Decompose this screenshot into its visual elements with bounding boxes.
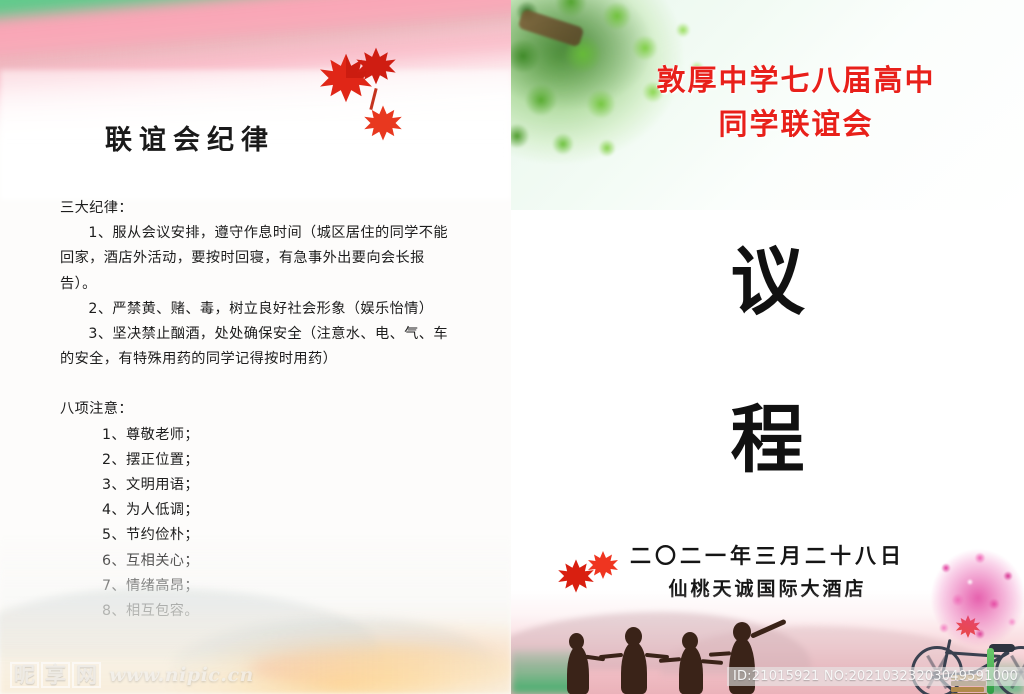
section-spacer (60, 372, 460, 397)
notes-item-3: 3、文明用语； (60, 473, 460, 498)
asset-id-strip: ID:21015921 NO:20210323203049591000 (727, 667, 1024, 686)
watermark-brand: 昵 享 网 (10, 662, 101, 688)
notes-item-1: 1、尊敬老师； (60, 423, 460, 448)
person-silhouette (621, 642, 647, 694)
discipline-heading: 三大纪律： (60, 196, 460, 221)
sunset-cloud-decoration (250, 647, 511, 689)
discipline-item-3: 3、坚决禁止酗酒，处处确保安全（注意水、电、气、车的安全，有特殊用药的同学记得按… (60, 322, 460, 372)
watermark-char-1: 昵 (10, 662, 39, 688)
right-panel: 敦厚中学七八届高中 同学联谊会 议 程 二〇二一年三月二十八日 仙桃天诚国际大酒… (511, 0, 1024, 694)
discipline-item-1: 1、服从会议安排，遵守作息时间（城区居住的同学不能回家，酒店外活动，要按时回寝，… (60, 221, 460, 297)
notes-heading: 八项注意： (60, 397, 460, 422)
notes-item-2: 2、摆正位置； (60, 448, 460, 473)
person-silhouette (567, 646, 589, 694)
watermark-url: www.nipic.cn (109, 664, 254, 686)
agenda-char-cheng: 程 (511, 380, 1024, 487)
watermark-char-2: 享 (41, 662, 70, 688)
left-panel-title: 联谊会纪律 (0, 118, 380, 157)
brochure-canvas: 联谊会纪律 三大纪律： 1、服从会议安排，遵守作息时间（城区居住的同学不能回家，… (0, 0, 1024, 694)
notes-item-4: 4、为人低调； (60, 498, 460, 523)
agenda-char-yi: 议 (511, 222, 1024, 329)
blossom-tree-decoration (924, 542, 1024, 660)
person-silhouette (679, 646, 703, 694)
discipline-item-2: 2、严禁黄、赌、毒，树立良好社会形象（娱乐怡情） (60, 297, 460, 322)
maple-leaf-icon (355, 46, 397, 86)
event-title-line-2: 同学联谊会 (571, 102, 1021, 146)
site-watermark: 昵 享 网 www.nipic.cn (10, 662, 254, 688)
left-panel: 联谊会纪律 三大纪律： 1、服从会议安排，遵守作息时间（城区居住的同学不能回家，… (0, 0, 511, 694)
watermark-char-3: 网 (72, 662, 101, 688)
event-title: 敦厚中学七八届高中 同学联谊会 (571, 58, 1021, 146)
event-title-line-1: 敦厚中学七八届高中 (571, 58, 1021, 102)
